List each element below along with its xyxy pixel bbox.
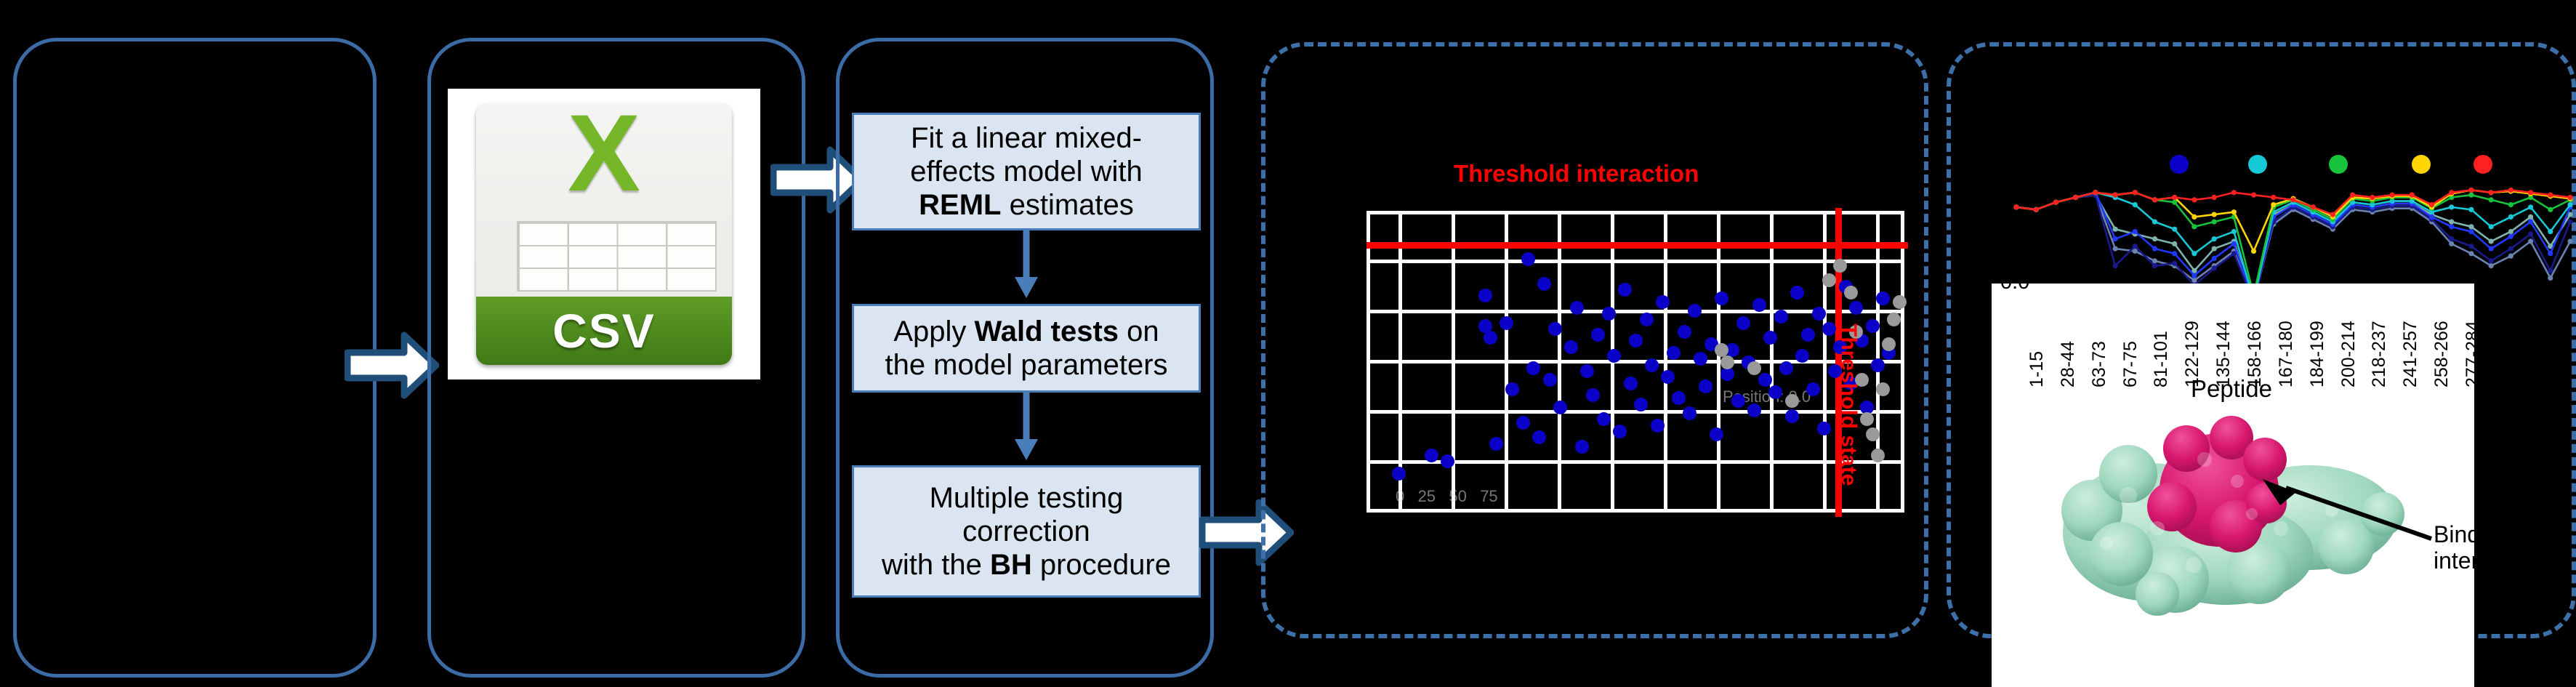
peptide-tick-label: 241-257 [2400, 321, 2421, 387]
scatter-point-nonsignificant [1785, 394, 1799, 408]
peptide-tick-label: 1-15 [2026, 351, 2048, 387]
scatter-point-significant [1640, 313, 1654, 326]
scatter-point-significant [1505, 382, 1519, 396]
scatter-point-significant [1548, 322, 1562, 336]
peptide-series-marker [2528, 238, 2533, 244]
peptide-series-marker [2212, 256, 2217, 261]
scatter-point-significant [1667, 346, 1681, 360]
scatter-point-significant [1575, 440, 1589, 454]
scatter-point-significant [1795, 349, 1809, 363]
connector-wald-to-bh [1010, 393, 1042, 462]
peptide-tick-label: 200-214 [2338, 321, 2359, 387]
scatter-point-nonsignificant [1887, 313, 1901, 326]
peptide-tick-label: 218-237 [2369, 321, 2390, 387]
scatter-point-significant [1580, 364, 1594, 378]
scatter-point-significant [1683, 406, 1696, 420]
scatter-point-significant [1710, 427, 1723, 441]
peptide-series-marker [2053, 200, 2058, 205]
peptide-series-marker [2528, 231, 2533, 236]
panel-input [13, 38, 377, 678]
scatter-point-significant [1613, 425, 1627, 438]
scatter-point-significant [1591, 328, 1605, 342]
scatter-point-significant [1425, 449, 1438, 462]
spreadsheet-grid-icon [517, 221, 717, 292]
legend-dot-2 [2248, 155, 2267, 174]
peptide-series-marker [2468, 207, 2474, 212]
peptide-series-marker [2212, 246, 2217, 251]
figure-canvas: X CSV Fit a linear mixed-effects model w… [0, 0, 2576, 687]
scatter-point-nonsignificant [1860, 412, 1874, 426]
scatter-point-significant [1817, 422, 1831, 435]
scatter-point-significant [1516, 416, 1530, 430]
scatter-point-significant [1876, 292, 1890, 305]
scatter-point-significant [1678, 325, 1691, 339]
peptide-series-marker [2508, 229, 2513, 234]
scatter-point-nonsignificant [1822, 273, 1836, 287]
scatter-point-nonsignificant [1876, 382, 1890, 396]
peptide-series-marker [2489, 258, 2494, 263]
peptide-series-marker [2112, 263, 2117, 268]
scatter-point-significant [1747, 403, 1761, 417]
scatter-point-significant [1543, 373, 1557, 387]
peptide-series-marker [2152, 236, 2157, 241]
step-wald-text: Apply Wald tests onthe model parameters [885, 315, 1167, 382]
scatter-point-significant [1849, 301, 1863, 315]
scatter-point-significant [1763, 331, 1777, 345]
peptide-series-marker [2034, 207, 2039, 212]
peptide-series-marker [2290, 197, 2295, 202]
peptide-series-marker [2271, 195, 2276, 200]
peptide-series-marker [2468, 224, 2474, 229]
scatter-point-significant [1570, 301, 1584, 315]
peptide-series-marker [2567, 220, 2572, 225]
peptide-series-marker [2548, 268, 2553, 273]
scatter-point-significant [1871, 358, 1885, 372]
scatter-point-nonsignificant [1871, 449, 1885, 462]
scatter-point-significant [1661, 370, 1675, 384]
peptide-series-marker [2567, 238, 2572, 244]
peptide-series-marker [2191, 214, 2197, 220]
scatter-point-significant [1758, 373, 1772, 387]
peptide-series-marker [2172, 261, 2177, 266]
scatter-point-significant [1521, 252, 1535, 266]
peptide-series-marker [2172, 241, 2177, 246]
peptide-series-marker [2133, 190, 2138, 195]
peptide-series-marker [2410, 193, 2415, 198]
step-bh-box: Multiple testingcorrectionwith the BH pr… [852, 465, 1201, 598]
scatter-points [1367, 211, 1904, 513]
scatter-point-significant [1768, 385, 1782, 399]
peptide-series-marker [2112, 246, 2117, 251]
peptide-series-marker [2330, 212, 2335, 217]
scatter-point-significant [1731, 394, 1745, 408]
peptide-series-marker [2508, 234, 2513, 239]
scatter-point-significant [1699, 379, 1712, 393]
peptide-series-marker [2191, 273, 2197, 278]
scatter-point-significant [1688, 304, 1702, 318]
peptide-series-marker [2489, 238, 2494, 244]
scatter-point-significant [1806, 382, 1820, 396]
peptide-series-marker [2489, 197, 2494, 202]
scatter-point-significant [1624, 377, 1638, 390]
peptide-series-marker [2508, 188, 2513, 193]
peptide-series-marker [2311, 204, 2316, 209]
peptide-series-marker [2271, 202, 2276, 207]
peptide-series-marker [2133, 202, 2138, 207]
scatter-point-nonsignificant [1866, 427, 1880, 441]
peptide-axis-title: Peptide [2137, 375, 2326, 403]
peptide-series-marker [2212, 236, 2217, 241]
peptide-series-marker [2548, 193, 2553, 198]
scatter-point-significant [1656, 295, 1670, 309]
scatter-point-significant [1392, 467, 1406, 481]
peptide-series-marker [2133, 229, 2138, 234]
threshold-interaction-label: Threshold interaction [1454, 160, 1699, 188]
peptide-series-marker [2489, 190, 2494, 195]
peptide-series-marker [2508, 214, 2513, 220]
peptide-series-marker [2152, 246, 2157, 251]
scatter-point-significant [1672, 391, 1686, 405]
legend-dot-5 [2474, 155, 2492, 174]
scatter-point-significant [1564, 340, 1578, 354]
peptide-series-marker [2112, 236, 2117, 241]
peptide-series-marker [2548, 251, 2553, 256]
peptide-series-marker [2449, 224, 2454, 229]
scatter-point-significant [1779, 361, 1793, 375]
peptide-series-marker [2468, 193, 2474, 198]
scatter-point-significant [1489, 437, 1503, 451]
peptide-series-marker [2172, 227, 2177, 232]
peptide-series-marker [2251, 249, 2256, 254]
peptide-series-marker [2489, 263, 2494, 268]
peptide-series-marker [2133, 244, 2138, 249]
peptide-series-marker [2468, 229, 2474, 234]
peptide-tick-label: 258-266 [2431, 321, 2452, 387]
connector-model-to-wald [1010, 230, 1042, 300]
scatter-point-significant [1532, 430, 1546, 444]
scatter-point-significant [1484, 331, 1497, 345]
peptide-series-marker [2429, 202, 2434, 207]
arrow-into-input [345, 331, 439, 400]
scatter-point-significant [1441, 454, 1454, 468]
peptide-series-marker [2191, 197, 2197, 202]
binding-interface-arrow [2257, 476, 2439, 549]
peptide-series-marker [2468, 251, 2474, 256]
peptide-series-marker [2567, 202, 2572, 207]
scatter-point-significant [1790, 286, 1804, 300]
peptide-series-marker [2112, 193, 2117, 198]
scatter-point-significant [1597, 412, 1611, 426]
peptide-series-marker [2191, 224, 2197, 229]
scatter-point-significant [1651, 419, 1665, 433]
peptide-series-marker [2528, 190, 2533, 195]
peptide-series-marker [2231, 190, 2237, 195]
peptide-series-marker [2251, 193, 2256, 198]
scatter-point-significant [1822, 322, 1836, 336]
peptide-series-marker [2489, 246, 2494, 251]
scatter-point-significant [1478, 289, 1492, 302]
peptide-series-marker [2152, 263, 2157, 268]
peptide-series-marker [2429, 214, 2434, 220]
scatter-point-significant [1618, 283, 1632, 297]
peptide-series-marker [2073, 195, 2078, 200]
scatter-point-nonsignificant [1882, 337, 1896, 351]
peptide-series-marker [2548, 276, 2553, 281]
peptide-series-marker [2508, 254, 2513, 259]
peptide-series-marker [2191, 251, 2197, 256]
csv-file-icon: X CSV [448, 89, 760, 379]
scatter-point-significant [1801, 328, 1815, 342]
scatter-point-significant [1812, 307, 1826, 321]
peptide-series-marker [2231, 229, 2237, 234]
peptide-series-marker [2508, 246, 2513, 251]
peptide-series-marker [2370, 195, 2375, 200]
peptide-series-marker [2489, 224, 2494, 229]
scatter-point-significant [1720, 367, 1734, 381]
scatter-point-significant [1752, 298, 1766, 312]
peptide-series-marker [2212, 265, 2217, 270]
legend-dot-4 [2412, 155, 2431, 174]
step-bh-text: Multiple testingcorrectionwith the BH pr… [882, 481, 1171, 582]
peptide-series-marker [2449, 190, 2454, 195]
scatter-point-significant [1586, 388, 1600, 402]
peptide-series-marker [2350, 193, 2355, 198]
scatter-plot: Position: 0.0 0 25 50 75 [1367, 211, 1904, 513]
peptide-series-marker [2548, 207, 2553, 212]
scatter-point-nonsignificant [1833, 259, 1847, 273]
scatter-point-significant [1774, 310, 1788, 324]
scatter-point-significant [1866, 319, 1880, 333]
scatter-point-significant [1634, 398, 1648, 411]
peptide-series-marker [2449, 241, 2454, 246]
peptide-series-marker [2112, 227, 2117, 232]
legend-dot-3 [2329, 155, 2348, 174]
scatter-point-nonsignificant [1747, 361, 1761, 375]
peptide-tick-label: 63-73 [2089, 341, 2110, 387]
y-tick-0: 0.0 [2000, 270, 2029, 294]
scatter-point-significant [1553, 401, 1567, 414]
binding-interface-label: Binding interface [2434, 522, 2523, 574]
peptide-series-marker [2389, 193, 2394, 198]
peptide-series-marker [2548, 229, 2553, 234]
legend-dot-1 [2170, 155, 2189, 174]
peptide-series-marker [2528, 214, 2533, 220]
scatter-point-significant [1694, 352, 1707, 366]
peptide-series-marker [2013, 204, 2018, 209]
peptide-series-marker [2449, 204, 2454, 209]
csv-badge: X CSV [476, 103, 733, 365]
peptide-series-marker [2449, 236, 2454, 241]
peptide-series-marker [2231, 209, 2237, 214]
scatter-point-significant [1537, 277, 1551, 291]
scatter-point-significant [1629, 334, 1643, 347]
csv-label: CSV [476, 297, 733, 365]
peptide-series-marker [2567, 195, 2572, 200]
peptide-tick-label: 28-44 [2058, 341, 2079, 387]
scatter-point-significant [1715, 292, 1728, 305]
scatter-point-significant [1785, 409, 1799, 423]
scatter-point-nonsignificant [1893, 295, 1907, 309]
peptide-tick-label: 277-284 [2463, 321, 2484, 387]
scatter-point-significant [1500, 316, 1513, 330]
scatter-point-significant [1526, 361, 1540, 375]
peptide-series-marker [2508, 202, 2513, 207]
scatter-point-nonsignificant [1720, 355, 1734, 369]
peptide-series-marker [2172, 195, 2177, 200]
peptide-series-marker [2468, 188, 2474, 193]
step-model-text: Fit a linear mixed-effects model withREM… [910, 121, 1142, 222]
peptide-series-marker [2449, 220, 2454, 225]
scatter-point-significant [1602, 307, 1616, 321]
scatter-point-significant [1645, 358, 1659, 372]
peptide-series-marker [2468, 244, 2474, 249]
scatter-point-nonsignificant [1844, 286, 1858, 300]
threshold-state-label: Threshold state [1836, 324, 1861, 486]
peptide-series-marker [2528, 220, 2533, 225]
peptide-series-marker [2212, 212, 2217, 217]
peptide-series-marker [2212, 220, 2217, 225]
scatter-point-significant [1736, 316, 1750, 330]
peptide-series-marker [2152, 220, 2157, 225]
peptide-series-marker [2172, 251, 2177, 256]
scatter-point-significant [1607, 349, 1621, 363]
peptide-series-marker [2528, 204, 2533, 209]
peptide-series-marker [2152, 197, 2157, 202]
step-wald-box: Apply Wald tests onthe model parameters [852, 304, 1201, 393]
peptide-series-marker [2231, 241, 2237, 246]
peptide-series-marker [2212, 195, 2217, 200]
peptide-series-marker [2093, 190, 2098, 195]
step-model-box: Fit a linear mixed-effects model withREM… [852, 113, 1201, 230]
